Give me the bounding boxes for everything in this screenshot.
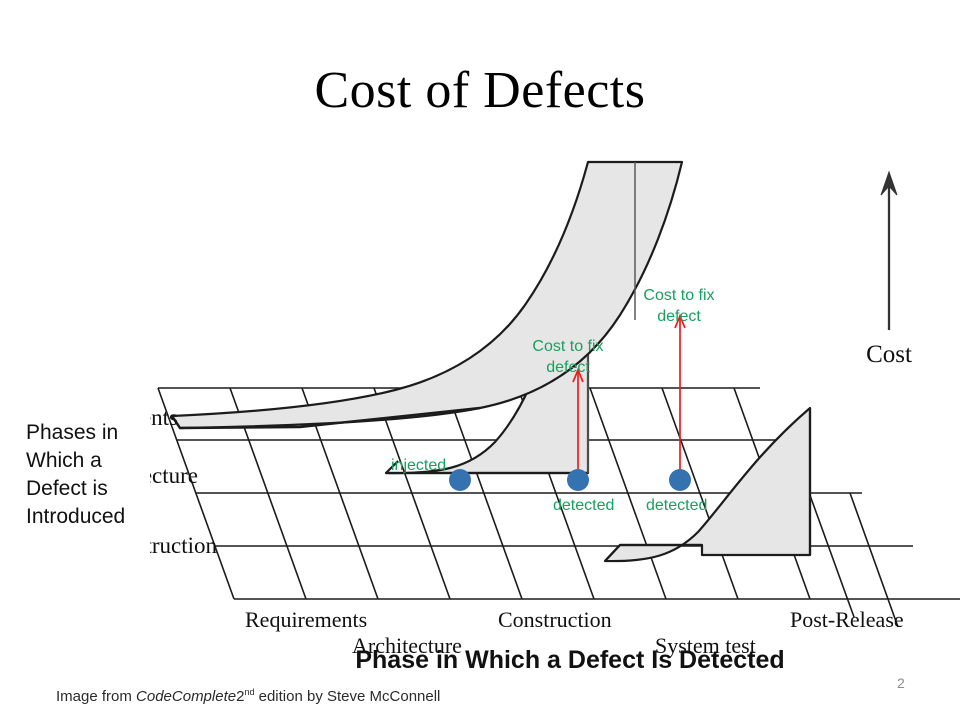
slide-canvas: Cost of Defects Phases in Which a Defect… <box>0 0 960 720</box>
annotation-cost-to-fix-1-line-1: Cost to fix <box>532 338 603 355</box>
annotation-detected-label-2: detected <box>646 497 707 514</box>
source-caption-edition-suffix: nd <box>244 687 254 697</box>
annotation-injected-label: injected <box>391 457 446 474</box>
annotation-cost-to-fix-1-line-2: defect <box>546 359 590 376</box>
depth-axis-tick-architecture: Architecture <box>150 463 198 488</box>
depth-axis-tick-construction: Construction <box>150 533 217 558</box>
x-axis-tick-requirements: Requirements <box>245 607 367 632</box>
annotation-detected-label-1: detected <box>553 497 614 514</box>
page-number: 2 <box>897 675 905 691</box>
source-caption-rest: edition by Steve McConnell <box>254 688 440 705</box>
cost-ribbon-construction <box>605 408 810 561</box>
defect-dot-injected <box>449 469 471 491</box>
y-axis-label: Cost <box>866 341 912 368</box>
source-caption-prefix: Image from <box>56 688 136 705</box>
cost-ribbon-construction-surface <box>605 408 810 561</box>
x-axis-tick-construction: Construction <box>498 607 612 632</box>
cost-of-defects-figure: injected detected detected Cost to fix d… <box>150 150 960 680</box>
annotation-cost-to-fix-2-line-2: defect <box>657 308 701 325</box>
source-caption: Image from CodeComplete2nd edition by St… <box>56 683 440 706</box>
depth-axis-tick-requirements: Requirements <box>150 405 178 430</box>
annotation-cost-to-fix-2-line-1: Cost to fix <box>643 287 714 304</box>
source-caption-book-title: CodeComplete <box>136 688 236 705</box>
defect-dot-detected-2 <box>669 469 691 491</box>
x-axis-tick-post-release: Post-Release <box>790 607 904 632</box>
page-title: Cost of Defects <box>0 62 960 120</box>
y-axis-indicator: Cost <box>866 172 912 368</box>
x-axis-title: Phase in Which a Defect Is Detected <box>355 646 784 674</box>
defect-dot-detected-1 <box>567 469 589 491</box>
